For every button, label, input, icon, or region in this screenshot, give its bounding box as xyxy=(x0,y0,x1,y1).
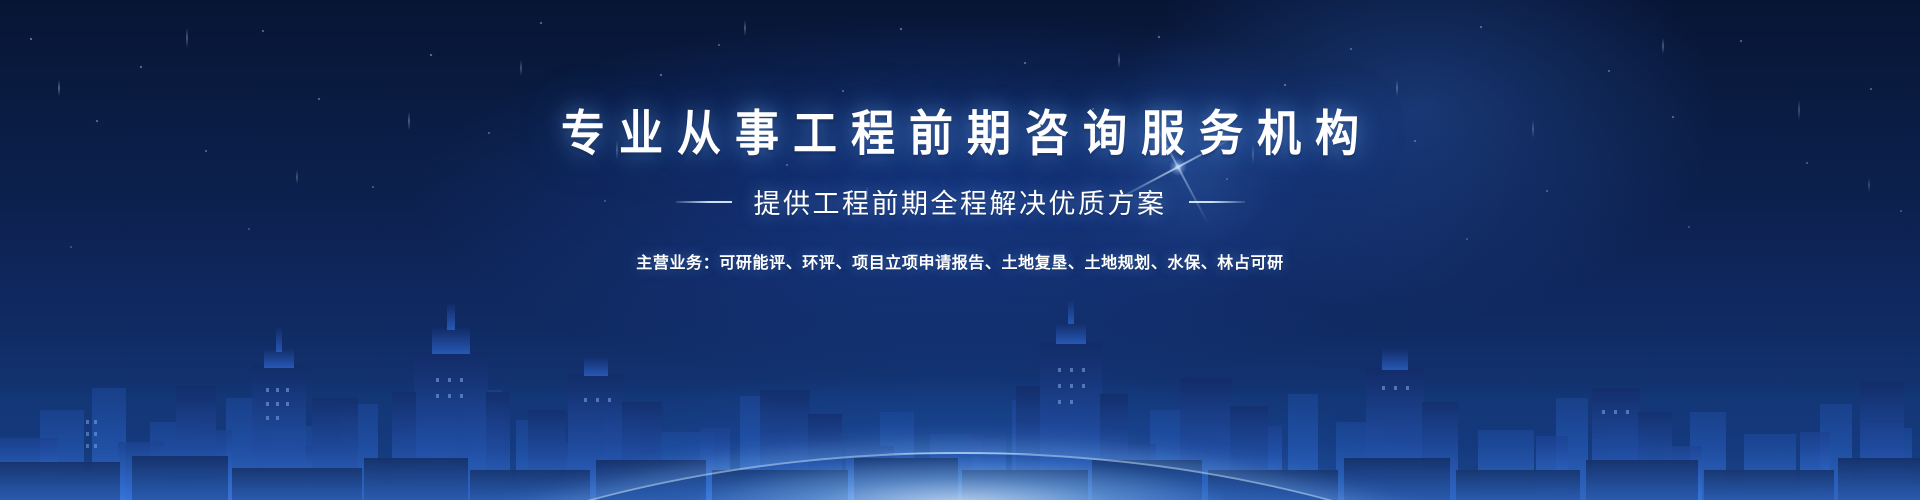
hero-banner: 专业从事工程前期咨询服务机构 提供工程前期全程解决优质方案 主营业务：可研能评、… xyxy=(0,0,1920,500)
banner-subtitle: 提供工程前期全程解决优质方案 xyxy=(754,182,1167,221)
banner-subtitle-row: 提供工程前期全程解决优质方案 xyxy=(676,182,1245,221)
left-dash-icon xyxy=(676,201,732,203)
banner-tagline: 主营业务：可研能评、环评、项目立项申请报告、土地复垦、土地规划、水保、林占可研 xyxy=(636,249,1283,273)
banner-content: 专业从事工程前期咨询服务机构 提供工程前期全程解决优质方案 主营业务：可研能评、… xyxy=(0,0,1920,500)
right-dash-icon xyxy=(1189,201,1245,203)
banner-headline: 专业从事工程前期咨询服务机构 xyxy=(547,108,1373,161)
